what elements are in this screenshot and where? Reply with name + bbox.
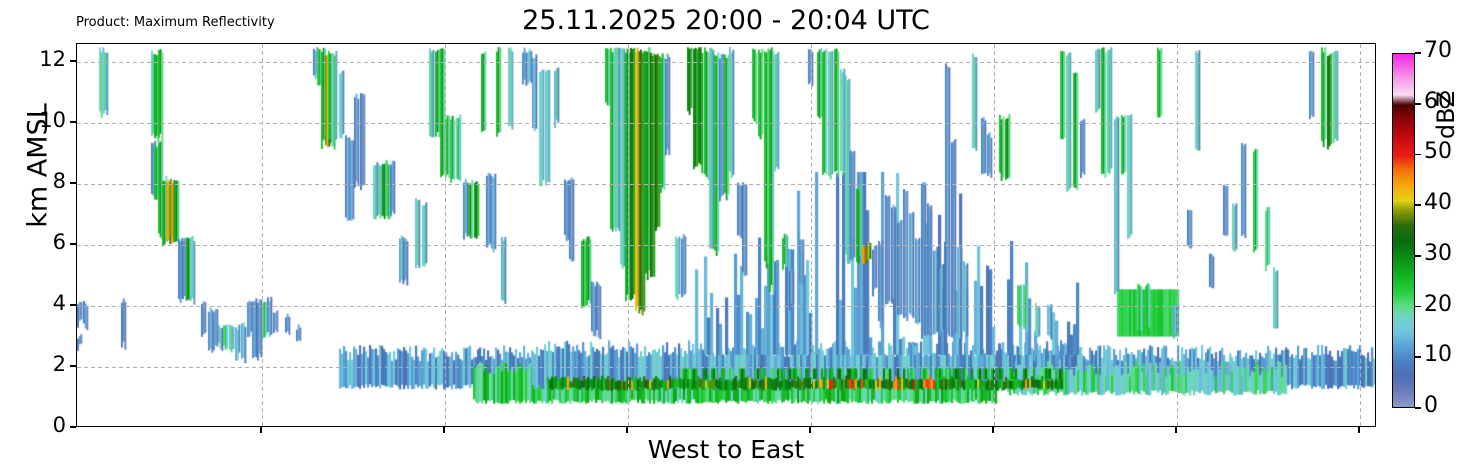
colorbar-tick-mark bbox=[1415, 154, 1421, 156]
gridline-horizontal bbox=[77, 306, 1376, 307]
colorbar-tick-mark bbox=[1415, 204, 1421, 206]
x-tick-mark bbox=[992, 427, 994, 433]
gridline-horizontal bbox=[77, 184, 1376, 185]
gridline-horizontal bbox=[77, 245, 1376, 246]
colorbar-tick-mark bbox=[1415, 255, 1421, 257]
y-tick-mark bbox=[70, 243, 76, 245]
y-tick-label: 0 bbox=[22, 413, 66, 437]
colorbar: 010203040506070 bbox=[1392, 53, 1415, 408]
y-axis-label: km AMSL bbox=[23, 36, 54, 296]
reflectivity-heatmap-canvas bbox=[77, 44, 1376, 427]
gridline-vertical bbox=[994, 44, 995, 427]
gridline-vertical bbox=[1177, 44, 1178, 427]
x-tick-mark bbox=[260, 427, 262, 433]
plot-area bbox=[76, 43, 1376, 427]
page-title: 25.11.2025 20:00 - 20:04 UTC bbox=[76, 5, 1376, 36]
gridline-vertical bbox=[628, 44, 629, 427]
gridline-vertical bbox=[445, 44, 446, 427]
x-axis-label: West to East bbox=[76, 435, 1376, 464]
colorbar-tick-mark bbox=[1415, 306, 1421, 308]
y-tick-mark bbox=[70, 365, 76, 367]
gridline-vertical bbox=[262, 44, 263, 427]
colorbar-tick-label: 0 bbox=[1424, 393, 1438, 418]
colorbar-label: dBZ bbox=[1432, 55, 1460, 175]
gridline-horizontal bbox=[77, 123, 1376, 124]
y-tick-mark bbox=[70, 60, 76, 62]
gridline-vertical bbox=[1360, 44, 1361, 427]
gridline-horizontal bbox=[77, 62, 1376, 63]
colorbar-tick-label: 10 bbox=[1424, 342, 1452, 367]
y-tick-mark bbox=[70, 121, 76, 123]
gridline-vertical bbox=[811, 44, 812, 427]
x-tick-mark bbox=[443, 427, 445, 433]
colorbar-tick-mark bbox=[1415, 356, 1421, 358]
colorbar-tick-mark bbox=[1415, 103, 1421, 105]
colorbar-tick-label: 20 bbox=[1424, 292, 1452, 317]
colorbar-tick-label: 30 bbox=[1424, 241, 1452, 266]
y-tick-mark bbox=[70, 304, 76, 306]
y-tick-mark bbox=[70, 426, 76, 428]
radar-cross-section-figure: Product: Maximum Reflectivity 25.11.2025… bbox=[0, 0, 1482, 470]
colorbar-tick-mark bbox=[1415, 407, 1421, 409]
gridline-horizontal bbox=[77, 367, 1376, 368]
colorbar-tick-label: 40 bbox=[1424, 190, 1452, 215]
colorbar-gradient bbox=[1392, 53, 1415, 408]
x-tick-mark bbox=[809, 427, 811, 433]
y-tick-mark bbox=[70, 182, 76, 184]
x-tick-mark bbox=[626, 427, 628, 433]
x-tick-mark bbox=[1175, 427, 1177, 433]
colorbar-tick-mark bbox=[1415, 52, 1421, 54]
x-tick-mark bbox=[1358, 427, 1360, 433]
y-tick-label: 2 bbox=[22, 352, 66, 376]
